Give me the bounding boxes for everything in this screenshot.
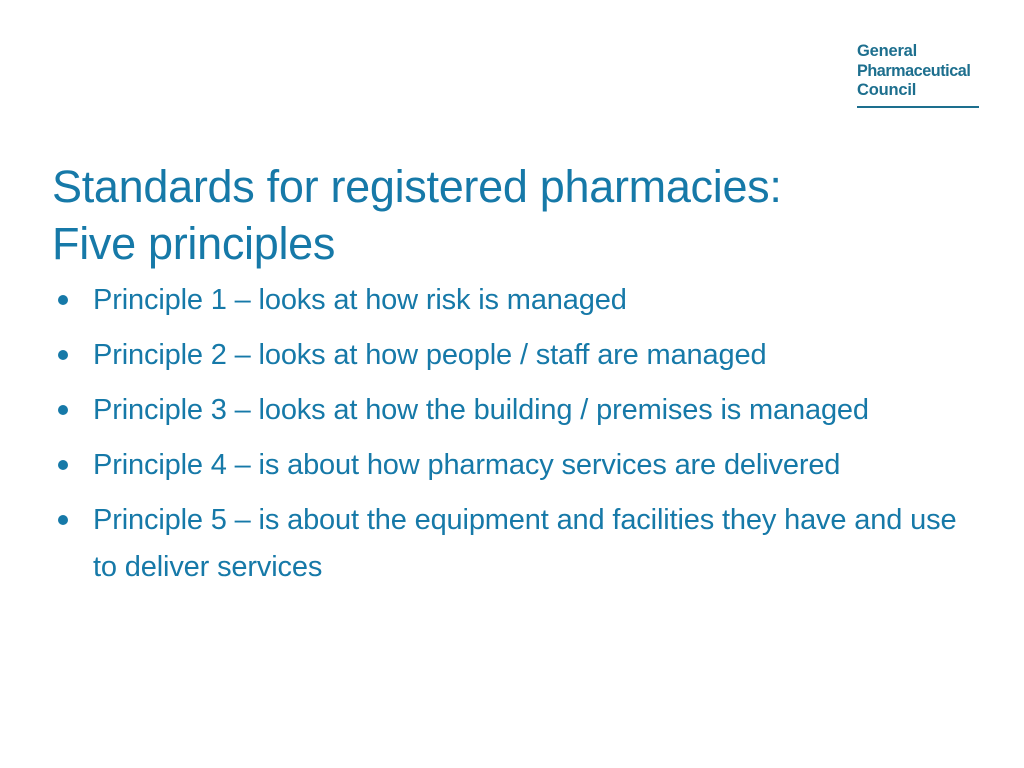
list-item: Principle 4 – is about how pharmacy serv… xyxy=(52,442,982,489)
slide-title-line-2: Five principles xyxy=(52,215,952,272)
list-item: Principle 3 – looks at how the building … xyxy=(52,387,982,434)
list-item-label: Principle 1 – looks at how risk is manag… xyxy=(93,277,982,324)
slide-title-line-1: Standards for registered pharmacies: xyxy=(52,158,952,215)
bullet-dot-icon xyxy=(58,405,68,415)
list-item: Principle 2 – looks at how people / staf… xyxy=(52,332,982,379)
list-item: Principle 5 – is about the equipment and… xyxy=(52,497,982,591)
logo-line-council: Council xyxy=(857,81,981,101)
logo-underline-divider xyxy=(857,106,979,108)
list-item-label: Principle 3 – looks at how the building … xyxy=(93,387,982,434)
gphc-logo: General Pharmaceutical Council xyxy=(857,42,981,108)
logo-line-pharmaceutical: Pharmaceutical xyxy=(857,62,981,82)
bullet-dot-icon xyxy=(58,295,68,305)
list-item: Principle 1 – looks at how risk is manag… xyxy=(52,277,982,324)
list-item-label: Principle 5 – is about the equipment and… xyxy=(93,497,982,591)
slide-title: Standards for registered pharmacies: Fiv… xyxy=(52,158,952,272)
bullet-dot-icon xyxy=(58,515,68,525)
bullet-dot-icon xyxy=(58,350,68,360)
list-item-label: Principle 2 – looks at how people / staf… xyxy=(93,332,982,379)
logo-line-general: General xyxy=(857,42,981,62)
principles-list: Principle 1 – looks at how risk is manag… xyxy=(52,277,982,599)
list-item-label: Principle 4 – is about how pharmacy serv… xyxy=(93,442,982,489)
presentation-slide: General Pharmaceutical Council Standards… xyxy=(0,0,1024,768)
bullet-dot-icon xyxy=(58,460,68,470)
